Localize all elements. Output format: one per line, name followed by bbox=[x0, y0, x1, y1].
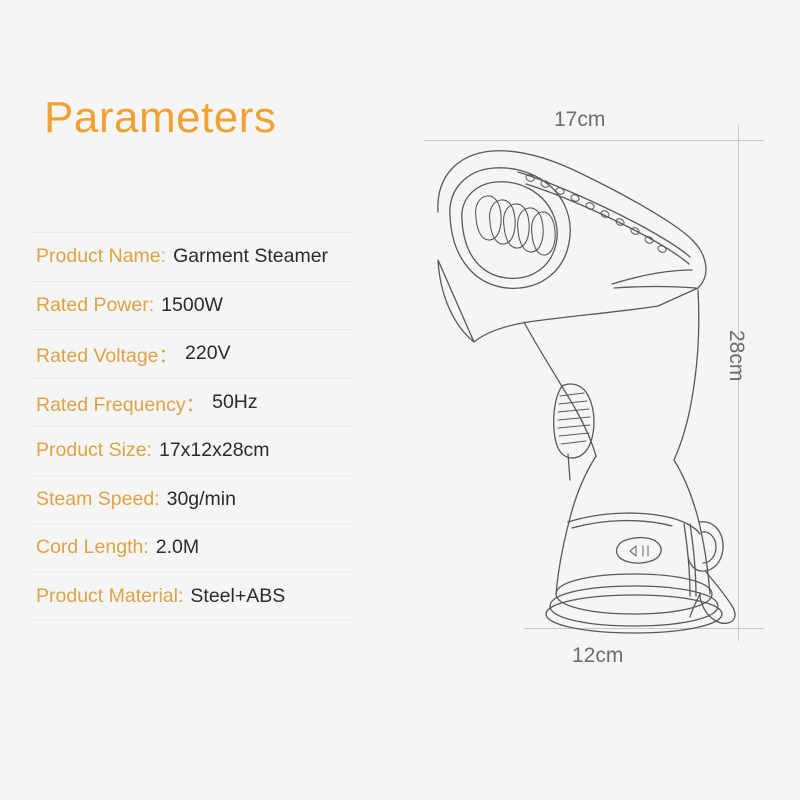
water-tank bbox=[556, 456, 710, 596]
spec-label: Product Name: bbox=[28, 245, 166, 268]
spec-row-rated-power: Rated Power: 1500W bbox=[28, 281, 355, 330]
top-vent-strip bbox=[518, 172, 690, 264]
spec-row-product-name: Product Name: Garment Steamer bbox=[28, 232, 355, 281]
spec-label: Cord Length: bbox=[28, 536, 149, 559]
spec-label: Product Size: bbox=[28, 439, 152, 462]
spec-row-cord-length: Cord Length: 2.0M bbox=[28, 523, 355, 572]
spec-label: Rated Power: bbox=[28, 294, 154, 317]
spec-row-product-material: Product Material: Steel+ABS bbox=[28, 572, 355, 622]
spec-label: Rated Voltage： bbox=[28, 339, 178, 368]
steam-nozzle-plate bbox=[450, 168, 570, 289]
dimension-label-depth-bottom: 12cm bbox=[572, 644, 623, 668]
trigger-ribs bbox=[558, 393, 590, 444]
spec-label: Product Material: bbox=[28, 585, 183, 608]
vent-holes bbox=[525, 174, 667, 254]
indicator-badge bbox=[617, 538, 661, 563]
spec-value: Garment Steamer bbox=[166, 245, 328, 268]
spec-value: Steel+ABS bbox=[183, 585, 285, 608]
garment-steamer-illustration bbox=[400, 120, 740, 640]
specification-table: Product Name: Garment Steamer Rated Powe… bbox=[28, 232, 355, 621]
spec-value: 50Hz bbox=[205, 391, 258, 414]
steamer-outline bbox=[438, 151, 706, 342]
spec-value: 17x12x28cm bbox=[152, 439, 270, 462]
steam-vent-slots bbox=[476, 196, 556, 255]
spec-value: 30g/min bbox=[160, 488, 236, 511]
product-parameters-page: Parameters Product Name: Garment Steamer… bbox=[0, 0, 800, 800]
spec-label: Rated Frequency： bbox=[28, 388, 205, 417]
spec-value: 2.0M bbox=[149, 536, 199, 559]
head-seam bbox=[612, 270, 696, 288]
spec-value: 220V bbox=[178, 342, 231, 365]
spec-row-product-size: Product Size: 17x12x28cm bbox=[28, 426, 355, 475]
page-title: Parameters bbox=[44, 92, 276, 144]
spec-row-steam-speed: Steam Speed: 30g/min bbox=[28, 475, 355, 524]
handle bbox=[524, 290, 699, 460]
spec-value: 1500W bbox=[154, 294, 223, 317]
spec-row-rated-voltage: Rated Voltage： 220V bbox=[28, 329, 355, 378]
spec-row-rated-frequency: Rated Frequency： 50Hz bbox=[28, 378, 355, 427]
spec-label: Steam Speed: bbox=[28, 488, 160, 511]
trigger bbox=[554, 384, 594, 480]
